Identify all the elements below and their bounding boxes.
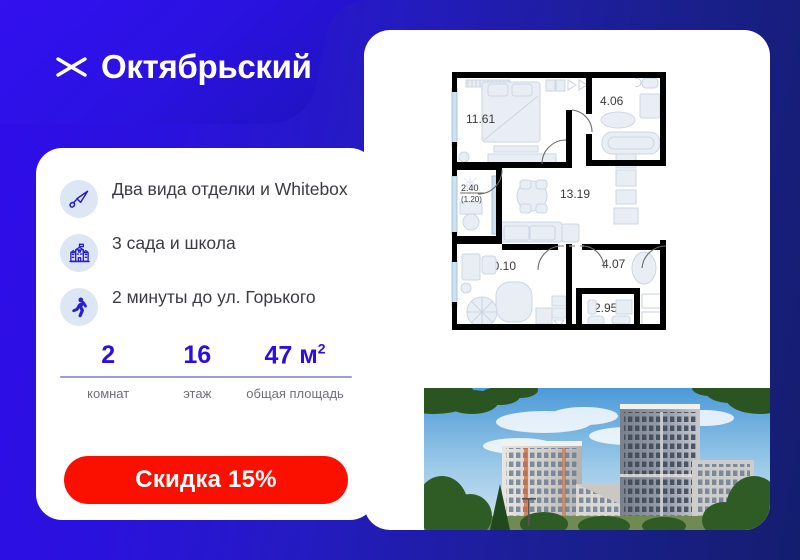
floorplan: .w { fill:#000; } .f { fill:#fff; } .fu … — [364, 30, 770, 370]
feature-label: 2 минуты до ул. Горького — [112, 286, 316, 308]
walking-person-icon — [60, 288, 98, 326]
discount-button[interactable]: Скидка 15% — [64, 456, 348, 504]
feature-label: Два вида отделки и Whitebox — [112, 178, 348, 200]
stat-area-unit: м2 — [299, 341, 325, 369]
stat-value-floor: 16 — [156, 342, 238, 370]
stat-value-area: 47 м2 — [238, 342, 352, 370]
floorplan-svg: .w { fill:#000; } .f { fill:#fff; } .fu … — [442, 50, 692, 350]
room-area-living: 13.19 — [560, 187, 590, 201]
stat-label-rooms: комнат — [60, 386, 156, 402]
feature-label: 3 сада и школа — [112, 232, 236, 254]
stat-label-floor: этаж — [156, 386, 238, 402]
building-photo-svg — [424, 388, 770, 530]
room-area-hall: 4.07 — [602, 257, 626, 271]
brand-name: Октябрьский — [101, 48, 312, 86]
feature-item-walk: 2 минуты до ул. Горького — [60, 286, 350, 326]
trowel-icon — [60, 180, 98, 218]
plan-card: .w { fill:#000; } .f { fill:#fff; } .fu … — [364, 30, 770, 530]
stat-label-area: общая площадь — [238, 386, 352, 402]
room-area-bedroom: 11.61 — [466, 112, 495, 126]
feature-list: Два вида отделки и Whitebox — [36, 148, 376, 326]
feature-item-school: 3 сада и школа — [60, 232, 350, 272]
brand-lockup: Октябрьский — [0, 48, 312, 86]
stat-area-number: 47 — [265, 341, 293, 369]
x-mark-icon — [55, 54, 89, 80]
school-icon — [60, 234, 98, 272]
stats-values-row: 2 16 47 м2 — [60, 342, 352, 370]
feature-item-finishing: Два вида отделки и Whitebox — [60, 178, 350, 218]
room-area-bathroom: 4.06 — [600, 94, 624, 108]
building-photo — [424, 388, 770, 530]
promo-banner: .w { fill:#000; } .f { fill:#fff; } .fu … — [0, 0, 800, 560]
room-area-wc: 2.95 — [594, 301, 618, 315]
room-area-balcony-sub: (1.20) — [461, 195, 482, 204]
stat-value-rooms: 2 — [60, 342, 156, 370]
stats-block: 2 16 47 м2 комнат этаж — [60, 342, 352, 402]
info-card: Два вида отделки и Whitebox — [36, 148, 376, 520]
stats-divider — [60, 376, 352, 378]
room-area-balcony: 2.40 — [461, 183, 479, 193]
stats-labels-row: комнат этаж общая площадь — [60, 386, 352, 402]
brand-tab: Октябрьский — [0, 0, 372, 152]
